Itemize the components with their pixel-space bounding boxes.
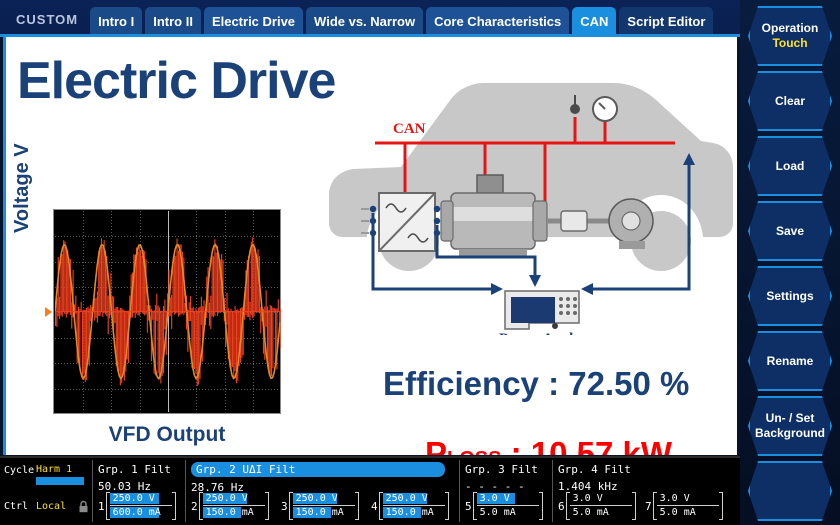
dynamometer-base [619, 241, 645, 249]
group-2-header: Grp. 2 UΔI Filt [191, 462, 445, 477]
channel-number: 1 [98, 500, 105, 513]
channel-value-voltage: 250.0 V [296, 493, 338, 504]
diagram-svg: CAN Power Analyzer [283, 45, 733, 335]
channel-meter-4[interactable]: 4250.0 V150.0 mA [371, 492, 449, 520]
tab-intro-ii[interactable]: Intro II [145, 7, 201, 36]
motor-end-left [441, 201, 453, 241]
channel-bars: 3.0 V5.0 mA [657, 493, 719, 519]
lock-icon [78, 500, 89, 513]
channel-bracket-right [539, 492, 543, 520]
canvas-left-accent [3, 37, 6, 455]
power-loss-readout: PLOSS : 10.57 kW [425, 435, 672, 455]
channel-meter-1[interactable]: 1250.0 V600.0 mA [98, 492, 176, 520]
sidebar-button-empty[interactable] [748, 461, 832, 521]
channel-bars: 250.0 V150.0 mA [203, 493, 265, 519]
power-analyzer-keypad [559, 297, 577, 315]
tab-electric-drive[interactable]: Electric Drive [204, 7, 303, 36]
channel-value-voltage: 250.0 V [386, 493, 428, 504]
ctrl-value: Local [36, 501, 66, 512]
channel-bracket-right [355, 492, 359, 520]
channel-number: 3 [281, 500, 288, 513]
trigger-marker-icon[interactable] [45, 307, 52, 317]
channel-value-current: 5.0 mA [480, 507, 516, 518]
channel-axis [110, 505, 172, 506]
signal-arrow-motor [529, 275, 541, 287]
signal-arrow-inverter [491, 283, 503, 295]
channel-value-voltage: 250.0 V [206, 493, 248, 504]
scope-y-axis-label: Voltage V [11, 143, 34, 233]
status-cycle-section[interactable]: Cycle Harm 1 Ctrl Local [4, 459, 90, 525]
channel-number: 4 [371, 500, 378, 513]
ploss-subscript: LOSS [447, 448, 501, 455]
channel-bracket-right [632, 492, 636, 520]
cycle-label: Cycle [4, 465, 34, 476]
channel-number: 2 [191, 500, 198, 513]
status-bar: Cycle Harm 1 Ctrl Local Grp. 1 Filt 50.0… [0, 456, 740, 525]
channel-meter-3[interactable]: 3250.0 V150.0 mA [281, 492, 359, 520]
channel-value-current: 5.0 mA [573, 507, 609, 518]
channel-value-current: 150.0 mA [386, 507, 434, 518]
sidebar-button-operation[interactable]: Operation Touch [748, 6, 832, 66]
main-canvas: Electric Drive [3, 37, 737, 455]
channel-meter-7[interactable]: 73.0 V5.0 mA [645, 492, 723, 520]
channel-bracket-right [719, 492, 723, 520]
motor-terminal-box [477, 175, 503, 193]
channel-number: 6 [558, 500, 565, 513]
sidebar-button-background-label: Un- / Set Background [755, 411, 825, 441]
sidebar-button-clear[interactable]: Clear [748, 71, 832, 131]
channel-bars: 250.0 V150.0 mA [293, 493, 355, 519]
status-divider [185, 460, 186, 522]
dynamometer-hub [622, 212, 640, 230]
power-analyzer-screen [511, 297, 555, 323]
group-4-header: Grp. 4 Filt [558, 463, 631, 476]
channel-meter-2[interactable]: 2250.0 V150.0 mA [191, 492, 269, 520]
sidebar-button-rename[interactable]: Rename [748, 331, 832, 391]
power-analyzer-label: Power Analyzer [499, 331, 601, 335]
channel-meter-5[interactable]: 53.0 V5.0 mA [465, 492, 543, 520]
channel-axis [657, 505, 719, 506]
application-window: CUSTOM Intro I Intro II Electric Drive W… [0, 0, 840, 525]
sidebar-button-operation-label: Operation [762, 21, 819, 36]
channel-axis [570, 505, 632, 506]
channel-meter-6[interactable]: 63.0 V5.0 mA [558, 492, 636, 520]
right-sidebar: Operation Touch Clear Load Save Settings… [740, 0, 840, 525]
scope-display[interactable] [53, 209, 281, 414]
channel-bars: 3.0 V5.0 mA [570, 493, 632, 519]
scope-caption: VFD Output [53, 423, 281, 447]
sidebar-button-clear-label: Clear [775, 94, 805, 109]
channel-value-current: 150.0 mA [206, 507, 254, 518]
tab-script-editor[interactable]: Script Editor [619, 7, 713, 36]
channel-axis [293, 505, 355, 506]
tab-intro-i[interactable]: Intro I [90, 7, 142, 36]
ploss-separator: : [501, 435, 530, 455]
channel-bars: 250.0 V600.0 mA [110, 493, 172, 519]
signal-arrow-analyzer-in [581, 283, 593, 295]
coupling [561, 211, 587, 231]
scope-waveform [55, 211, 281, 414]
channel-value-current: 600.0 mA [113, 507, 161, 518]
custom-label: CUSTOM [0, 12, 90, 36]
power-analyzer-knob [552, 323, 558, 329]
channel-value-voltage: 250.0 V [113, 493, 155, 504]
status-bar-top-rule [0, 456, 740, 458]
motor-body-highlight [451, 207, 535, 221]
channel-bracket-right [172, 492, 176, 520]
efficiency-readout: Efficiency : 72.50 % [383, 365, 689, 403]
tab-can[interactable]: CAN [572, 7, 616, 36]
channel-axis [383, 505, 445, 506]
channel-value-voltage: 3.0 V [660, 493, 690, 504]
tab-wide-vs-narrow[interactable]: Wide vs. Narrow [306, 7, 423, 36]
channel-value-voltage: 3.0 V [573, 493, 603, 504]
channel-bars: 250.0 V150.0 mA [383, 493, 445, 519]
sidebar-button-save-label: Save [776, 224, 804, 239]
sidebar-button-load-label: Load [776, 159, 805, 174]
drivetrain-diagram: CAN Power Analyzer [283, 45, 733, 335]
channel-number: 5 [465, 500, 472, 513]
efficiency-value: 72.50 % [568, 365, 689, 402]
status-divider [92, 460, 93, 522]
channel-axis [203, 505, 265, 506]
sidebar-button-load[interactable]: Load [748, 136, 832, 196]
tab-bar: CUSTOM Intro I Intro II Electric Drive W… [0, 0, 740, 36]
channel-value-current: 150.0 mA [296, 507, 344, 518]
sidebar-button-settings[interactable]: Settings [748, 266, 832, 326]
channel-bracket-right [445, 492, 449, 520]
group-3-header: Grp. 3 Filt [465, 463, 538, 476]
sidebar-button-save[interactable]: Save [748, 201, 832, 261]
sidebar-button-operation-value: Touch [772, 36, 807, 51]
channel-axis [477, 505, 539, 506]
can-label: CAN [393, 121, 426, 137]
status-divider [552, 460, 553, 522]
channel-value-current: 5.0 mA [660, 507, 696, 518]
scope-screen[interactable] [53, 209, 281, 414]
cycle-value: Harm 1 [36, 464, 72, 475]
group-1-header: Grp. 1 Filt [98, 463, 171, 476]
channel-value-voltage: 3.0 V [480, 493, 510, 504]
sidebar-button-rename-label: Rename [767, 354, 814, 369]
efficiency-label: Efficiency : [383, 365, 568, 402]
channel-bars: 3.0 V5.0 mA [477, 493, 539, 519]
status-divider [459, 460, 460, 522]
ploss-value: 10.57 kW [531, 435, 672, 455]
channel-number: 7 [645, 500, 652, 513]
ploss-label: P [425, 435, 447, 455]
channel-bracket-right [265, 492, 269, 520]
motor-end-right [533, 201, 547, 241]
ctrl-label: Ctrl [4, 501, 28, 512]
sidebar-button-background[interactable]: Un- / Set Background [748, 396, 832, 456]
cycle-bar [36, 477, 84, 485]
tab-core-characteristics[interactable]: Core Characteristics [426, 7, 569, 36]
sidebar-button-settings-label: Settings [766, 289, 813, 304]
